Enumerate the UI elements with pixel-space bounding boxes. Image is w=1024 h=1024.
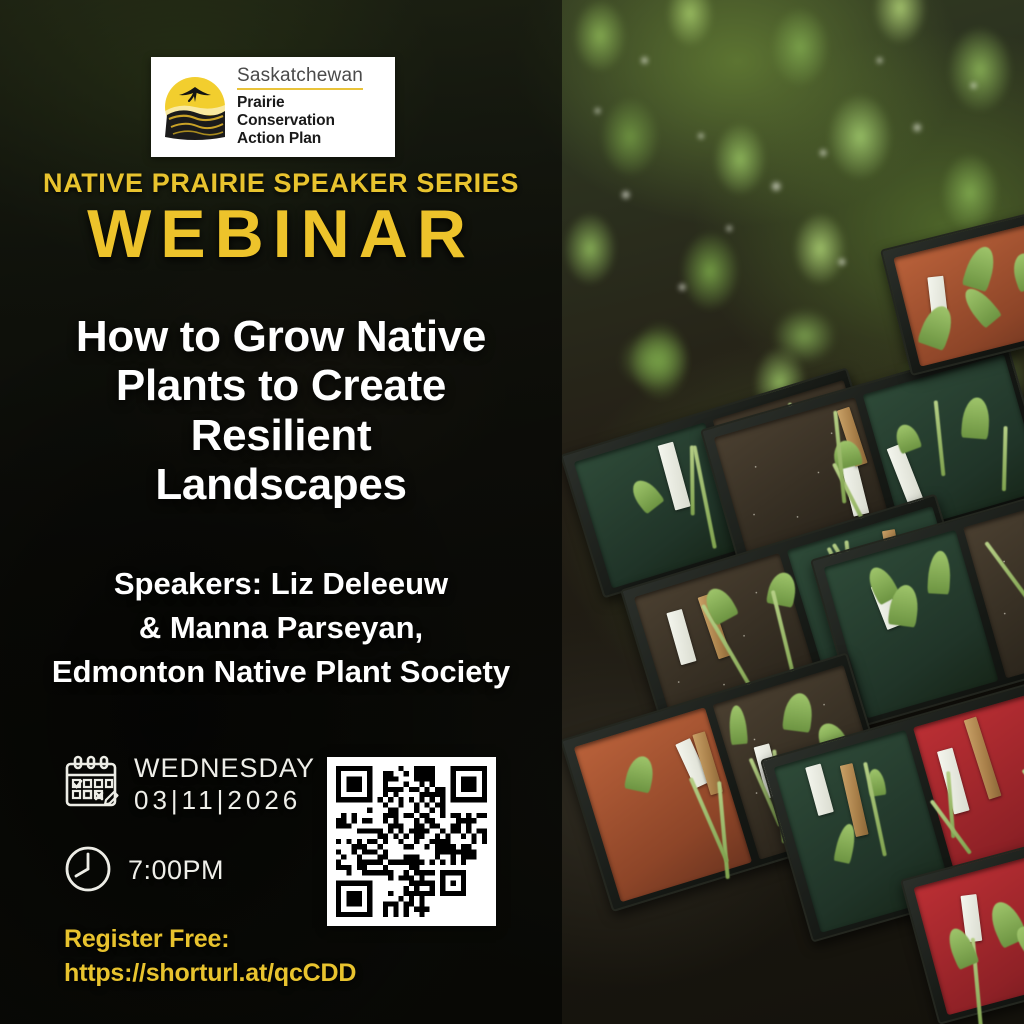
organization-logo: Saskatchewan Prairie Conservation Action…: [151, 57, 395, 157]
prairie-sunset-bird-logo-icon: [159, 71, 231, 143]
qr-code-icon[interactable]: [327, 757, 496, 926]
speakers-block: Speakers: Liz Deleeuw & Manna Parseyan, …: [8, 562, 554, 694]
photo-seedling: [782, 692, 814, 733]
qr-code-canvas[interactable]: [336, 766, 487, 917]
registration-block[interactable]: Register Free: https://shorturl.at/qcCDD: [64, 922, 544, 990]
calendar-icon: [62, 753, 120, 816]
event-day-of-week: WEDNESDAY: [134, 753, 315, 783]
speakers-line-3: Edmonton Native Plant Society: [52, 654, 510, 689]
series-eyebrow: NATIVE PRAIRIE SPEAKER SERIES: [0, 168, 562, 199]
page-title: How to Grow Native Plants to Create Resi…: [18, 312, 544, 509]
speakers-line-1: Speakers: Liz Deleeuw: [114, 566, 448, 601]
event-date-text: WEDNESDAY 03|11|2026: [134, 753, 315, 816]
logo-line-saskatchewan: Saskatchewan: [237, 66, 363, 90]
photo-seedling: [917, 302, 957, 351]
photo-plant-label: [666, 609, 696, 665]
photo-seedling: [624, 754, 656, 793]
logo-line-3: Action Plan: [237, 130, 321, 147]
photo-seedling: [962, 244, 1000, 293]
event-time-row: 7:00PM: [62, 842, 315, 900]
photo-seedling: [984, 541, 1024, 603]
logo-wordmark: Saskatchewan Prairie Conservation Action…: [237, 66, 385, 149]
logo-line-program: Prairie Conservation Action Plan: [237, 94, 385, 149]
poster-content: Saskatchewan Prairie Conservation Action…: [0, 0, 562, 1024]
title-line-4: Landscapes: [155, 460, 406, 509]
clock-icon: [62, 843, 114, 900]
photo-seedling: [934, 400, 946, 476]
title-line-3: Resilient: [191, 411, 372, 460]
webinar-poster: Saskatchewan Prairie Conservation Action…: [0, 0, 1024, 1024]
photo-plant-label: [937, 748, 970, 815]
event-time-value: 7:00PM: [128, 855, 224, 887]
photo-seedling: [727, 705, 747, 745]
title-line-2: Plants to Create: [116, 361, 446, 410]
event-date-value: 03|11|2026: [134, 785, 315, 816]
webinar-headline: WEBINAR: [0, 198, 562, 271]
photo-seedling: [1008, 250, 1024, 293]
photo-seedling: [717, 781, 730, 879]
photo-seedling: [1002, 426, 1008, 491]
event-date-row: WEDNESDAY 03|11|2026: [62, 748, 315, 820]
speakers-line-2: & Manna Parseyan,: [139, 610, 423, 645]
title-line-1: How to Grow Native: [76, 312, 486, 361]
register-cta-label: Register Free:: [64, 922, 544, 956]
registration-url[interactable]: https://shorturl.at/qcCDD: [64, 956, 544, 990]
photo-seedling: [927, 550, 951, 594]
event-details: WEDNESDAY 03|11|2026 7:00PM: [62, 748, 315, 900]
logo-line-2: Prairie Conservation: [237, 94, 335, 129]
photo-wooden-stake: [964, 716, 1002, 799]
photo-seedling: [960, 396, 990, 439]
photo-seedling: [627, 475, 665, 515]
photo-plant-label: [806, 763, 835, 816]
